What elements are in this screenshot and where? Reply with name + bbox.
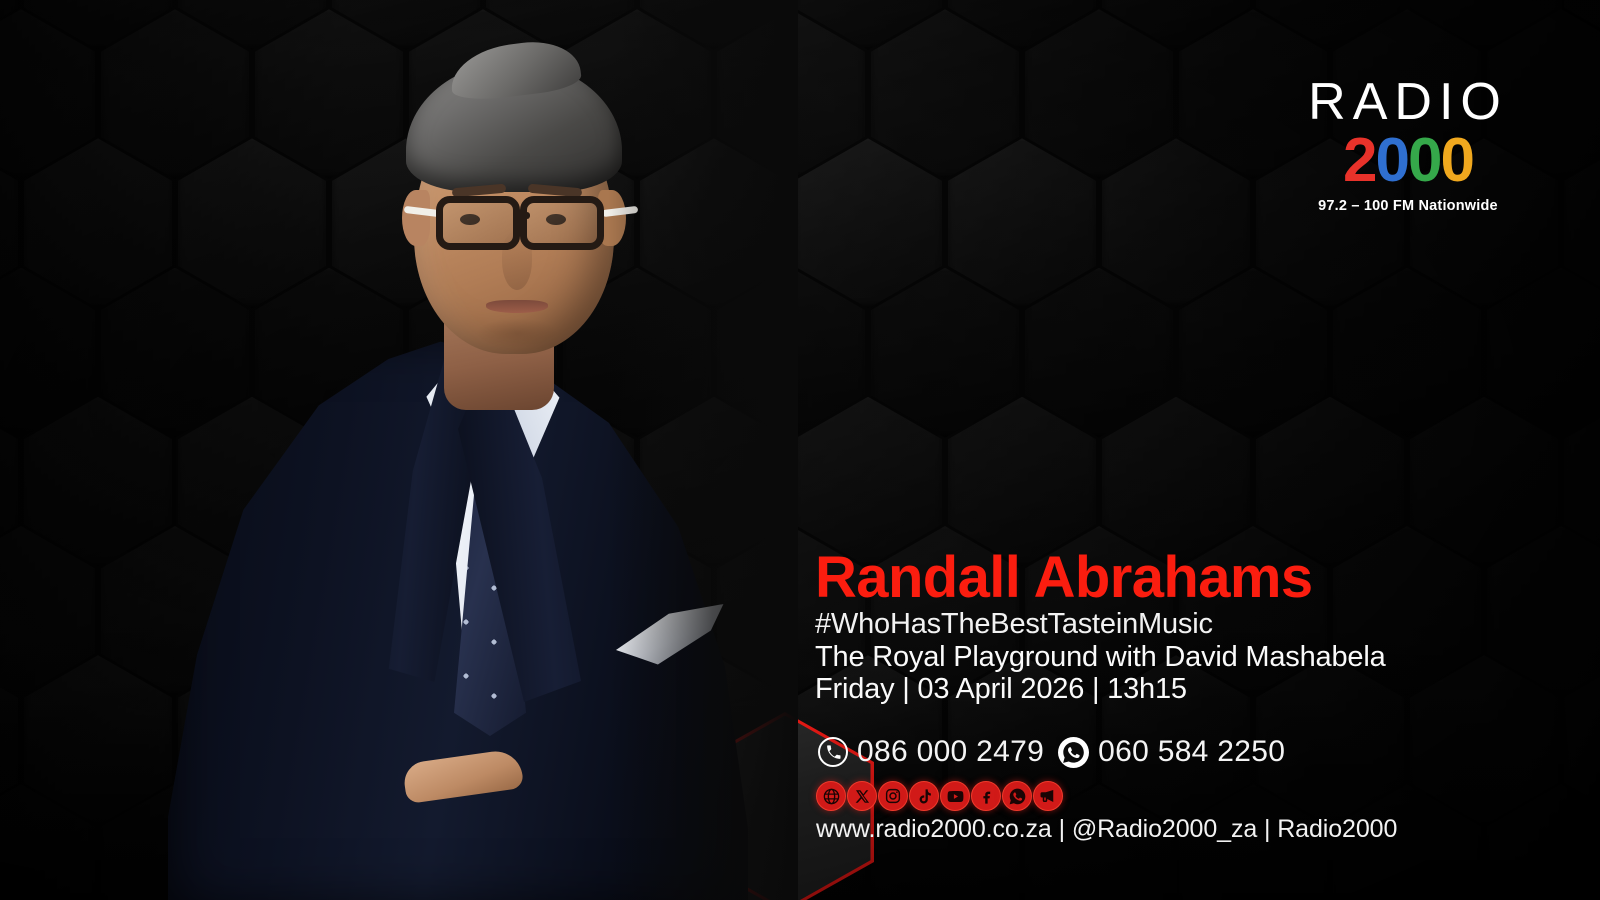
- radio-promo-poster: RADIO 2 0 0 0 97.2 – 100 FM Nationwide R…: [0, 0, 1600, 900]
- portrait-ear-left: [402, 190, 430, 246]
- promo-hashtag: #WhoHasTheBestTasteinMusic: [815, 608, 1555, 640]
- megaphone-icon[interactable]: [1033, 781, 1063, 811]
- portrait-chin-shadow: [476, 318, 558, 348]
- station-logo: RADIO 2 0 0 0 97.2 – 100 FM Nationwide: [1308, 76, 1508, 214]
- contact-numbers: 086 000 2479 060 584 2250: [818, 735, 1285, 769]
- whatsapp-icon: [1058, 737, 1089, 768]
- portrait-mouth: [486, 300, 548, 313]
- portrait-edge-fade: [608, 0, 798, 900]
- tiktok-icon[interactable]: [909, 781, 939, 811]
- x-twitter-icon[interactable]: [847, 781, 877, 811]
- logo-digit-0-yellow: 0: [1440, 130, 1472, 192]
- whatsapp-icon[interactable]: [1002, 781, 1032, 811]
- logo-number: 2 0 0 0: [1308, 130, 1508, 192]
- logo-digit-0-blue: 0: [1376, 130, 1408, 192]
- glasses-bridge: [516, 212, 530, 219]
- call-contact[interactable]: 086 000 2479: [818, 735, 1044, 769]
- website-icon[interactable]: [816, 781, 846, 811]
- facebook-icon[interactable]: [971, 781, 1001, 811]
- promo-text-block: Randall Abrahams #WhoHasTheBestTasteinMu…: [815, 548, 1555, 706]
- whatsapp-number: 060 584 2250: [1098, 735, 1285, 769]
- glasses-lens-right: [520, 196, 604, 250]
- guest-name: Randall Abrahams: [815, 548, 1555, 608]
- glasses-lens-left: [436, 196, 520, 250]
- footer-handles: www.radio2000.co.za | @Radio2000_za | Ra…: [816, 815, 1397, 844]
- logo-digit-0-green: 0: [1408, 130, 1440, 192]
- guest-portrait: [128, 0, 788, 900]
- phone-number: 086 000 2479: [857, 735, 1044, 769]
- instagram-icon[interactable]: [878, 781, 908, 811]
- promo-schedule: Friday | 03 April 2026 | 13h15: [815, 673, 1555, 705]
- phone-icon: [818, 737, 848, 767]
- logo-frequency-tagline: 97.2 – 100 FM Nationwide: [1308, 198, 1508, 214]
- logo-wordmark: RADIO: [1308, 76, 1508, 128]
- youtube-icon[interactable]: [940, 781, 970, 811]
- logo-digit-2: 2: [1343, 130, 1375, 192]
- social-icon-row: [816, 781, 1063, 811]
- whatsapp-contact[interactable]: 060 584 2250: [1058, 735, 1285, 769]
- promo-show-name: The Royal Playground with David Mashabel…: [815, 641, 1555, 673]
